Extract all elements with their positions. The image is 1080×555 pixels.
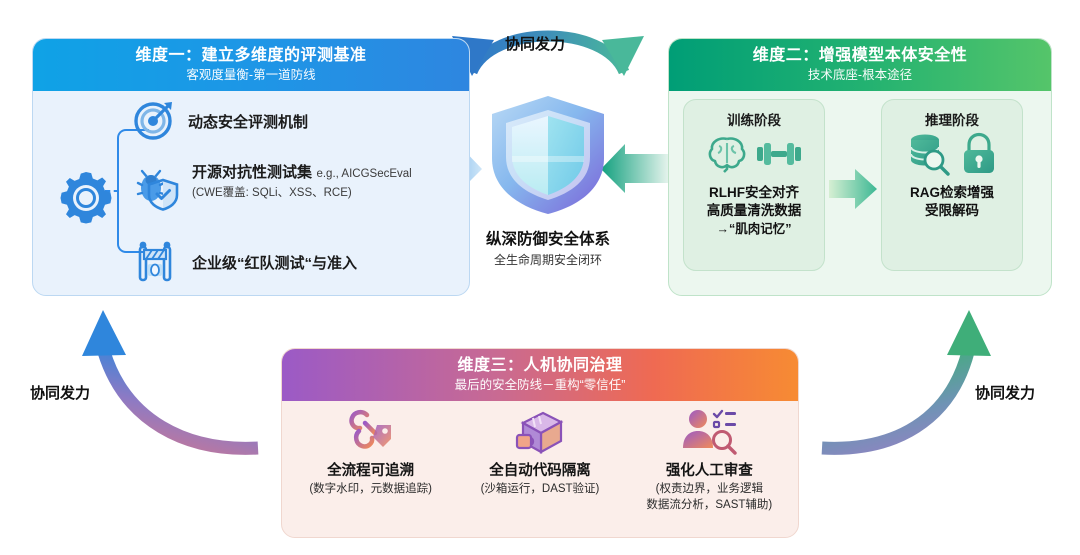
list-item: 强化人工审查 (权责边界，业务逻辑 数据流分析，SAST辅助) <box>625 407 794 530</box>
chain-tag-icon <box>345 407 397 457</box>
panel-dimension-two: 维度二：增强模型本体安全性 技术底座-根本途径 训练阶段 <box>668 38 1052 296</box>
item-heading: 动态安全评测机制 <box>188 114 308 131</box>
top-arc-label: 协同发力 <box>505 33 565 54</box>
center-subtitle: 全生命周期安全闭环 <box>478 251 618 268</box>
item-heading: 全流程可追溯 <box>327 459 414 480</box>
left-arc-label: 协同发力 <box>30 382 90 403</box>
list-item: 全流程可追溯 (数字水印，元数据追踪) <box>286 407 455 530</box>
panel-dimension-three: 维度三：人机协同治理 最后的安全防线－重构“零信任” 全流程可追溯 (数字水印，… <box>281 348 799 538</box>
shield-icon <box>478 92 618 218</box>
sandbox-package-icon <box>513 407 567 457</box>
stage-desc-line: RLHF安全对齐 <box>707 184 802 202</box>
list-item: 动态安全评测机制 <box>133 99 308 146</box>
dumbbell-icon <box>756 140 802 173</box>
center-title: 纵深防御安全体系 <box>478 227 618 249</box>
curved-arrow-icon <box>82 310 258 448</box>
arrow-right-icon <box>827 167 879 211</box>
stage-desc-small: →“肌肉记忆” <box>707 221 802 238</box>
item-heading: 开源对抗性测试集 <box>192 164 312 181</box>
center-shield-block: 纵深防御安全体系 全生命周期安全闭环 <box>478 92 618 268</box>
panel-three-subtitle: 最后的安全防线－重构“零信任” <box>282 377 798 393</box>
item-sub-line: e.g., AICGSecEval <box>316 168 411 180</box>
person-review-icon <box>681 407 737 457</box>
panel-one-body: 动态安全评测机制 <box>33 91 469 288</box>
brain-icon <box>707 135 747 178</box>
list-item: 企业级“红队测试“与准入 <box>133 239 357 288</box>
curved-arrow-icon <box>822 310 991 448</box>
database-search-icon <box>907 132 951 181</box>
list-item: 开源对抗性测试集 e.g., AICGSecEval (CWE覆盖: SQLi、… <box>133 163 469 216</box>
item-sub-line: (权责边界，业务逻辑 <box>656 482 763 498</box>
stage-label: 训练阶段 <box>727 109 781 129</box>
diagram-canvas: 协同发力 协同发力 协同发力 纵深防御安全体系 全生命周期安全闭环 维度一：建立… <box>0 0 1080 555</box>
item-sub-line: (CWE覆盖: SQLi、XSS、RCE) <box>192 187 352 199</box>
panel-one-header: 维度一：建立多维度的评测基准 客观度量衡-第一道防线 <box>33 39 469 91</box>
list-item: 全自动代码隔离 (沙箱运行，DAST验证) <box>455 407 624 530</box>
stage-label: 推理阶段 <box>925 109 979 129</box>
right-arc-label: 协同发力 <box>975 382 1035 403</box>
panel-two-subtitle: 技术底座-根本途径 <box>669 67 1051 83</box>
panel-dimension-one: 维度一：建立多维度的评测基准 客观度量衡-第一道防线 <box>32 38 470 296</box>
item-sub-line: 数据流分析，SAST辅助) <box>646 498 772 514</box>
panel-one-subtitle: 客观度量衡-第一道防线 <box>33 67 469 83</box>
panel-two-header: 维度二：增强模型本体安全性 技术底座-根本途径 <box>669 39 1051 91</box>
item-heading: 强化人工审查 <box>666 459 753 480</box>
item-heading: 企业级“红队测试“与准入 <box>192 255 357 272</box>
barrier-gate-icon <box>133 239 179 288</box>
stage-desc-line: 受限解码 <box>910 202 994 220</box>
item-sub-line: (沙箱运行，DAST验证) <box>481 482 600 498</box>
panel-two-body: 训练阶段 <box>669 91 1051 288</box>
stage-desc-line: 高质量清洗数据 <box>707 202 802 220</box>
bug-shield-icon <box>133 163 179 216</box>
gear-icon <box>57 169 115 232</box>
panel-three-body: 全流程可追溯 (数字水印，元数据追踪) 全自动代码隔离 (沙箱运行，DAST验证… <box>282 401 798 530</box>
panel-three-header: 维度三：人机协同治理 最后的安全防线－重构“零信任” <box>282 349 798 401</box>
panel-three-title: 维度三：人机协同治理 <box>282 356 798 376</box>
target-dart-icon <box>133 99 175 146</box>
lock-icon <box>960 132 998 181</box>
stage-box-inference: 推理阶段 <box>881 99 1023 271</box>
stage-box-training: 训练阶段 <box>683 99 825 271</box>
item-heading: 全自动代码隔离 <box>489 459 591 480</box>
panel-two-title: 维度二：增强模型本体安全性 <box>669 46 1051 66</box>
panel-one-title: 维度一：建立多维度的评测基准 <box>33 46 469 66</box>
stage-desc-line: RAG检索增强 <box>910 184 994 202</box>
item-sub-line: (数字水印，元数据追踪) <box>309 482 432 498</box>
